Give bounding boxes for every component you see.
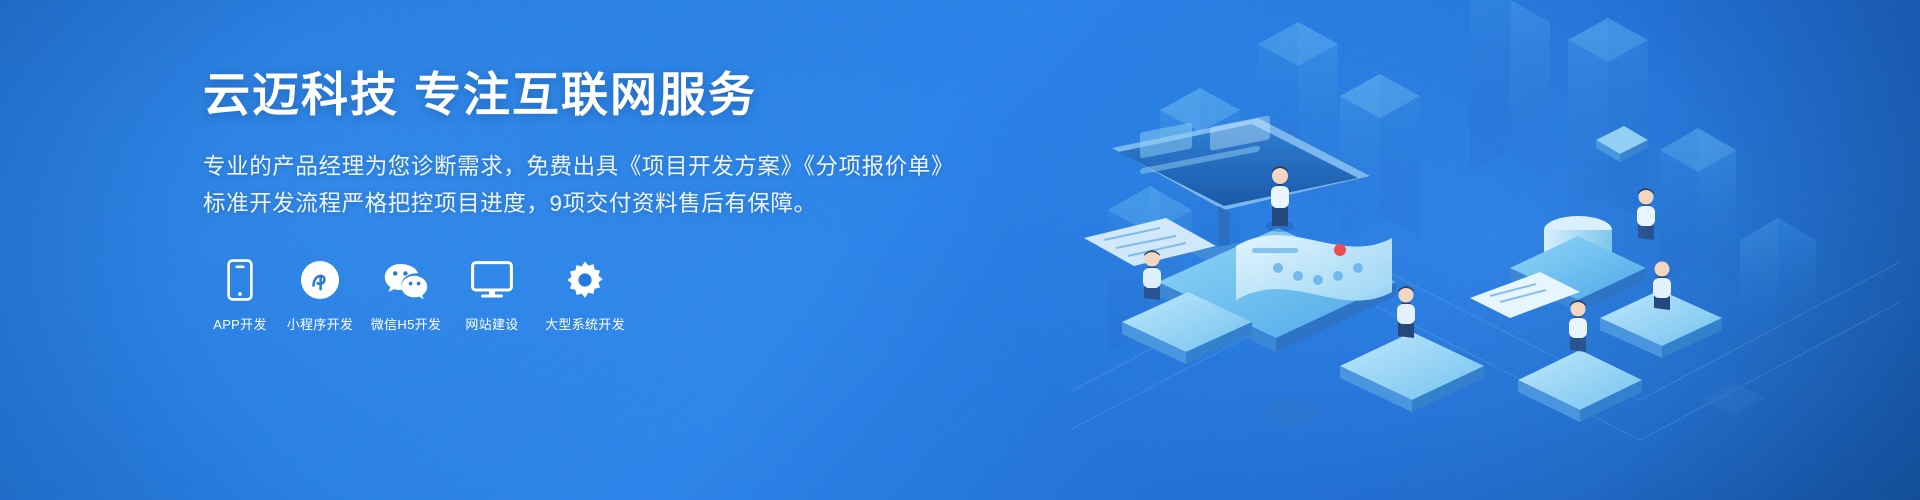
page-title: 云迈科技 专注互联网服务	[203, 66, 963, 123]
feature-label-mini-program: 小程序开发	[287, 314, 354, 333]
feature-item-large-system[interactable]: 大型系统开发	[535, 258, 635, 333]
subtitle-line-2: 标准开发流程严格把控项目进度，9项交付资料售后有保障。	[203, 186, 963, 222]
hero-content: 云迈科技 专注互联网服务 专业的产品经理为您诊断需求，免费出具《项目开发方案》《…	[203, 66, 963, 333]
feature-label-website: 网站建设	[465, 314, 518, 333]
feature-label-wechat-h5: 微信H5开发	[371, 314, 441, 333]
service-feature-list: APP开发 小程序开发	[203, 258, 963, 333]
feature-item-app[interactable]: APP开发	[203, 258, 277, 333]
feature-item-mini-program[interactable]: 小程序开发	[283, 258, 357, 333]
feature-item-website[interactable]: 网站建设	[455, 258, 529, 333]
monitor-icon	[471, 258, 513, 302]
feature-label-app: APP开发	[213, 314, 267, 333]
hero-banner: 云迈科技 专注互联网服务 专业的产品经理为您诊断需求，免费出具《项目开发方案》《…	[0, 0, 1920, 500]
feature-item-wechat-h5[interactable]: 微信H5开发	[363, 258, 449, 333]
gear-icon	[564, 258, 606, 302]
hero-subtitle: 专业的产品经理为您诊断需求，免费出具《项目开发方案》《分项报价单》 标准开发流程…	[203, 149, 963, 222]
wechat-icon	[383, 258, 429, 302]
isometric-data-platform-illustration	[1040, 0, 1920, 500]
mini-program-icon	[300, 258, 340, 302]
subtitle-line-1: 专业的产品经理为您诊断需求，免费出具《项目开发方案》《分项报价单》	[203, 154, 954, 179]
feature-label-large-system: 大型系统开发	[545, 314, 625, 333]
mobile-phone-icon	[227, 258, 253, 302]
